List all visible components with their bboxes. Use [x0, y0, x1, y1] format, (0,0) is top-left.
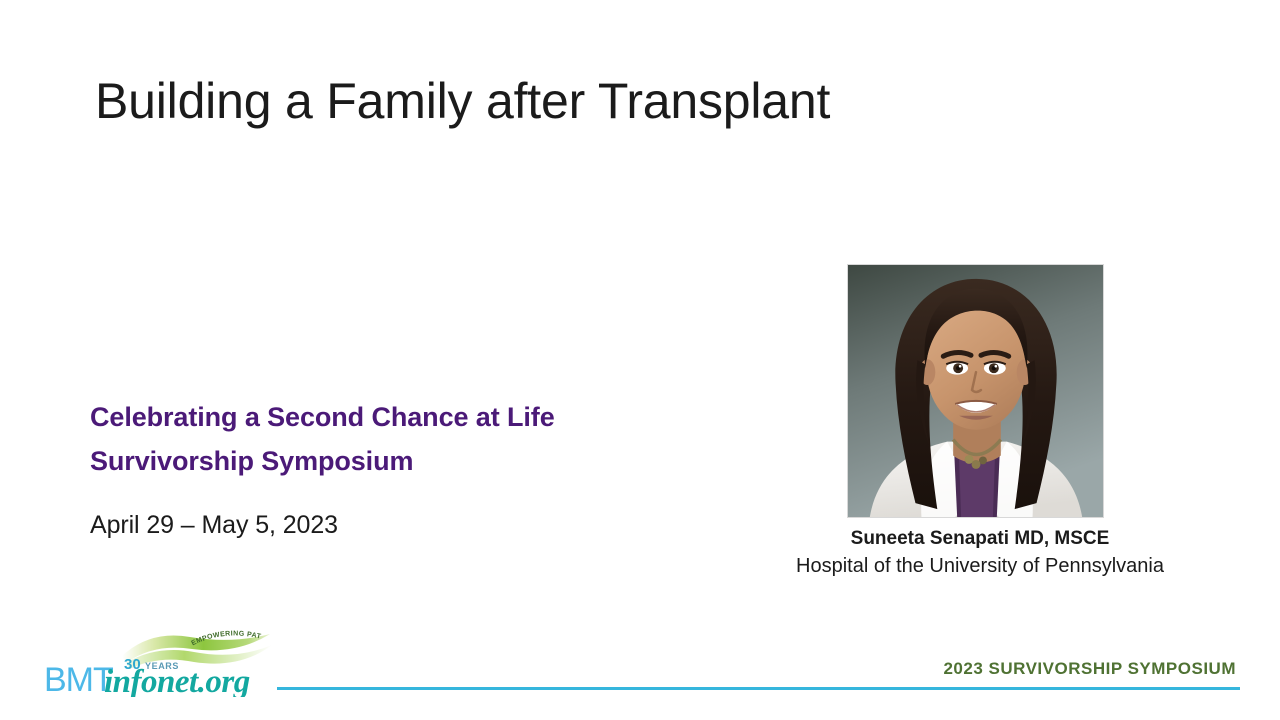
presentation-slide: Building a Family after Transplant Celeb… — [0, 0, 1280, 720]
logo-graphic: EMPOWERING PATIENTS 30 YEARS BMT infonet… — [40, 625, 280, 697]
event-date: April 29 – May 5, 2023 — [90, 511, 338, 540]
headshot-illustration — [848, 265, 1103, 517]
speaker-affiliation: Hospital of the University of Pennsylvan… — [700, 555, 1260, 578]
footer-divider — [277, 687, 1240, 690]
page-title: Building a Family after Transplant — [95, 72, 830, 130]
event-heading-line-1: Celebrating a Second Chance at Life — [90, 402, 555, 432]
speaker-photo — [847, 264, 1104, 518]
speaker-name: Suneeta Senapati MD, MSCE — [700, 528, 1260, 550]
logo-brand-primary: BMT — [44, 661, 113, 697]
event-heading: Celebrating a Second Chance at Life Surv… — [90, 396, 710, 483]
bmt-infonet-logo[interactable]: EMPOWERING PATIENTS 30 YEARS BMT infonet… — [40, 625, 280, 697]
event-heading-line-2: Survivorship Symposium — [90, 440, 710, 484]
logo-brand-secondary: infonet.org — [104, 664, 250, 697]
footer-symposium-label: 2023 SURVIVORSHIP SYMPOSIUM — [943, 659, 1236, 679]
